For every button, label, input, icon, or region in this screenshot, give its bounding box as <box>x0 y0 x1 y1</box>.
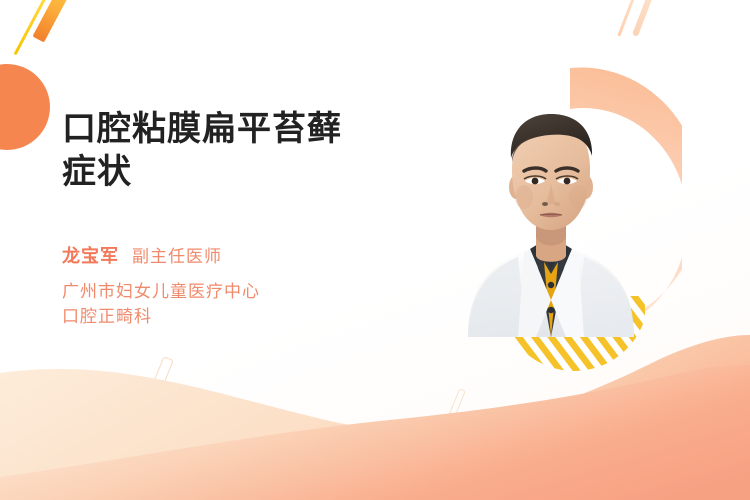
doctor-portrait-image <box>456 92 646 337</box>
peach-thick-streak-icon <box>632 0 662 37</box>
page-title: 口腔粘膜扁平苔藓 症状 <box>62 108 442 194</box>
poster-text-block: 口腔粘膜扁平苔藓 症状 龙宝军 副主任医师 广州市妇女儿童医疗中心 口腔正畸科 <box>62 108 442 330</box>
yellow-thin-streak-icon <box>14 0 52 55</box>
outline-streak-left-icon <box>141 356 174 416</box>
doctor-name: 龙宝军 <box>62 242 119 268</box>
outline-streak-center-icon <box>445 388 466 426</box>
doctor-name-row: 龙宝军 副主任医师 <box>62 242 442 268</box>
department-name: 口腔正畸科 <box>62 304 442 330</box>
poster-card: 口腔粘膜扁平苔藓 症状 龙宝军 副主任医师 广州市妇女儿童医疗中心 口腔正畸科 <box>0 0 750 500</box>
orange-thick-streak-icon <box>32 0 80 42</box>
orange-circle-icon <box>0 64 50 150</box>
peach-thin-streak-icon <box>617 0 641 37</box>
cream-wave-shape <box>0 335 750 500</box>
doctor-info-block: 龙宝军 副主任医师 广州市妇女儿童医疗中心 口腔正畸科 <box>62 242 442 330</box>
hospital-name: 广州市妇女儿童医疗中心 <box>62 279 442 305</box>
peach-wave-shape <box>0 365 750 500</box>
doctor-rank: 副主任医师 <box>132 242 222 267</box>
